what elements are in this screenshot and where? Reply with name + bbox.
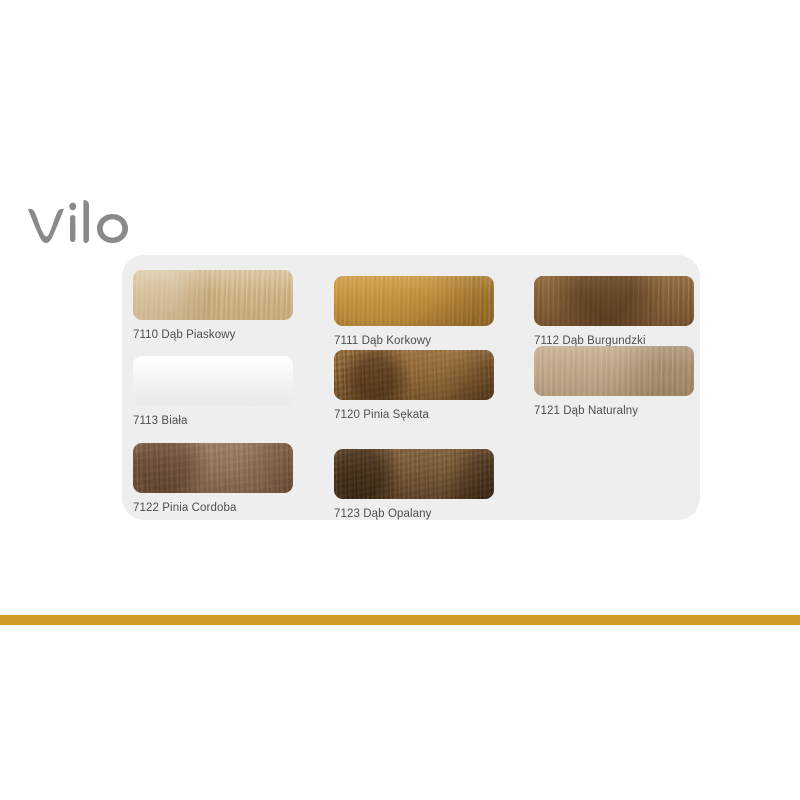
- swatch-label-7121: 7121 Dąb Naturalny: [534, 405, 694, 417]
- vilo-logo: [26, 198, 136, 252]
- swatch-item-7113[interactable]: 7113 Biała: [133, 356, 293, 427]
- accent-divider: [0, 615, 800, 625]
- swatch-item-7121[interactable]: 7121 Dąb Naturalny: [534, 346, 694, 417]
- swatch-item-7120[interactable]: 7120 Pinia Sękata: [334, 350, 494, 421]
- swatch-label-7123: 7123 Dąb Opalany: [334, 508, 494, 520]
- swatch-label-7113: 7113 Biała: [133, 415, 293, 427]
- decor-collection-card: 7110 Dąb Piaskowy 7111 Dąb Korkowy 7112 …: [122, 255, 700, 520]
- swatch-chip-7112[interactable]: [534, 276, 694, 326]
- wood-grain-layer: [534, 276, 694, 326]
- decor-swatch-page: { "brand": { "name": "vilo", "logo_icon"…: [0, 0, 800, 800]
- wood-grain-layer: [534, 346, 694, 396]
- vilo-wordmark-logo: [26, 198, 136, 252]
- panel-shading-layer: [133, 356, 293, 406]
- wood-grain-layer: [133, 270, 293, 320]
- wood-grain-layer: [133, 443, 293, 493]
- swatch-chip-7123[interactable]: [334, 449, 494, 499]
- swatch-label-7120: 7120 Pinia Sękata: [334, 409, 494, 421]
- swatch-item-7122[interactable]: 7122 Pinia Cordoba: [133, 443, 293, 514]
- swatch-chip-7110[interactable]: [133, 270, 293, 320]
- swatch-item-7111[interactable]: 7111 Dąb Korkowy: [334, 276, 494, 347]
- swatch-grid: 7110 Dąb Piaskowy 7111 Dąb Korkowy 7112 …: [122, 255, 700, 520]
- swatch-chip-7111[interactable]: [334, 276, 494, 326]
- swatch-label-7122: 7122 Pinia Cordoba: [133, 502, 293, 514]
- swatch-label-7110: 7110 Dąb Piaskowy: [133, 329, 293, 341]
- swatch-chip-7121[interactable]: [534, 346, 694, 396]
- swatch-chip-7122[interactable]: [133, 443, 293, 493]
- swatch-chip-7113[interactable]: [133, 356, 293, 406]
- swatch-item-7123[interactable]: 7123 Dąb Opalany: [334, 449, 494, 520]
- wood-grain-layer: [334, 350, 494, 400]
- swatch-label-7111: 7111 Dąb Korkowy: [334, 335, 494, 347]
- wood-grain-layer: [334, 276, 494, 326]
- wood-grain-layer: [334, 449, 494, 499]
- swatch-item-7112[interactable]: 7112 Dąb Burgundzki: [534, 276, 694, 347]
- swatch-item-7110[interactable]: 7110 Dąb Piaskowy: [133, 270, 293, 341]
- swatch-chip-7120[interactable]: [334, 350, 494, 400]
